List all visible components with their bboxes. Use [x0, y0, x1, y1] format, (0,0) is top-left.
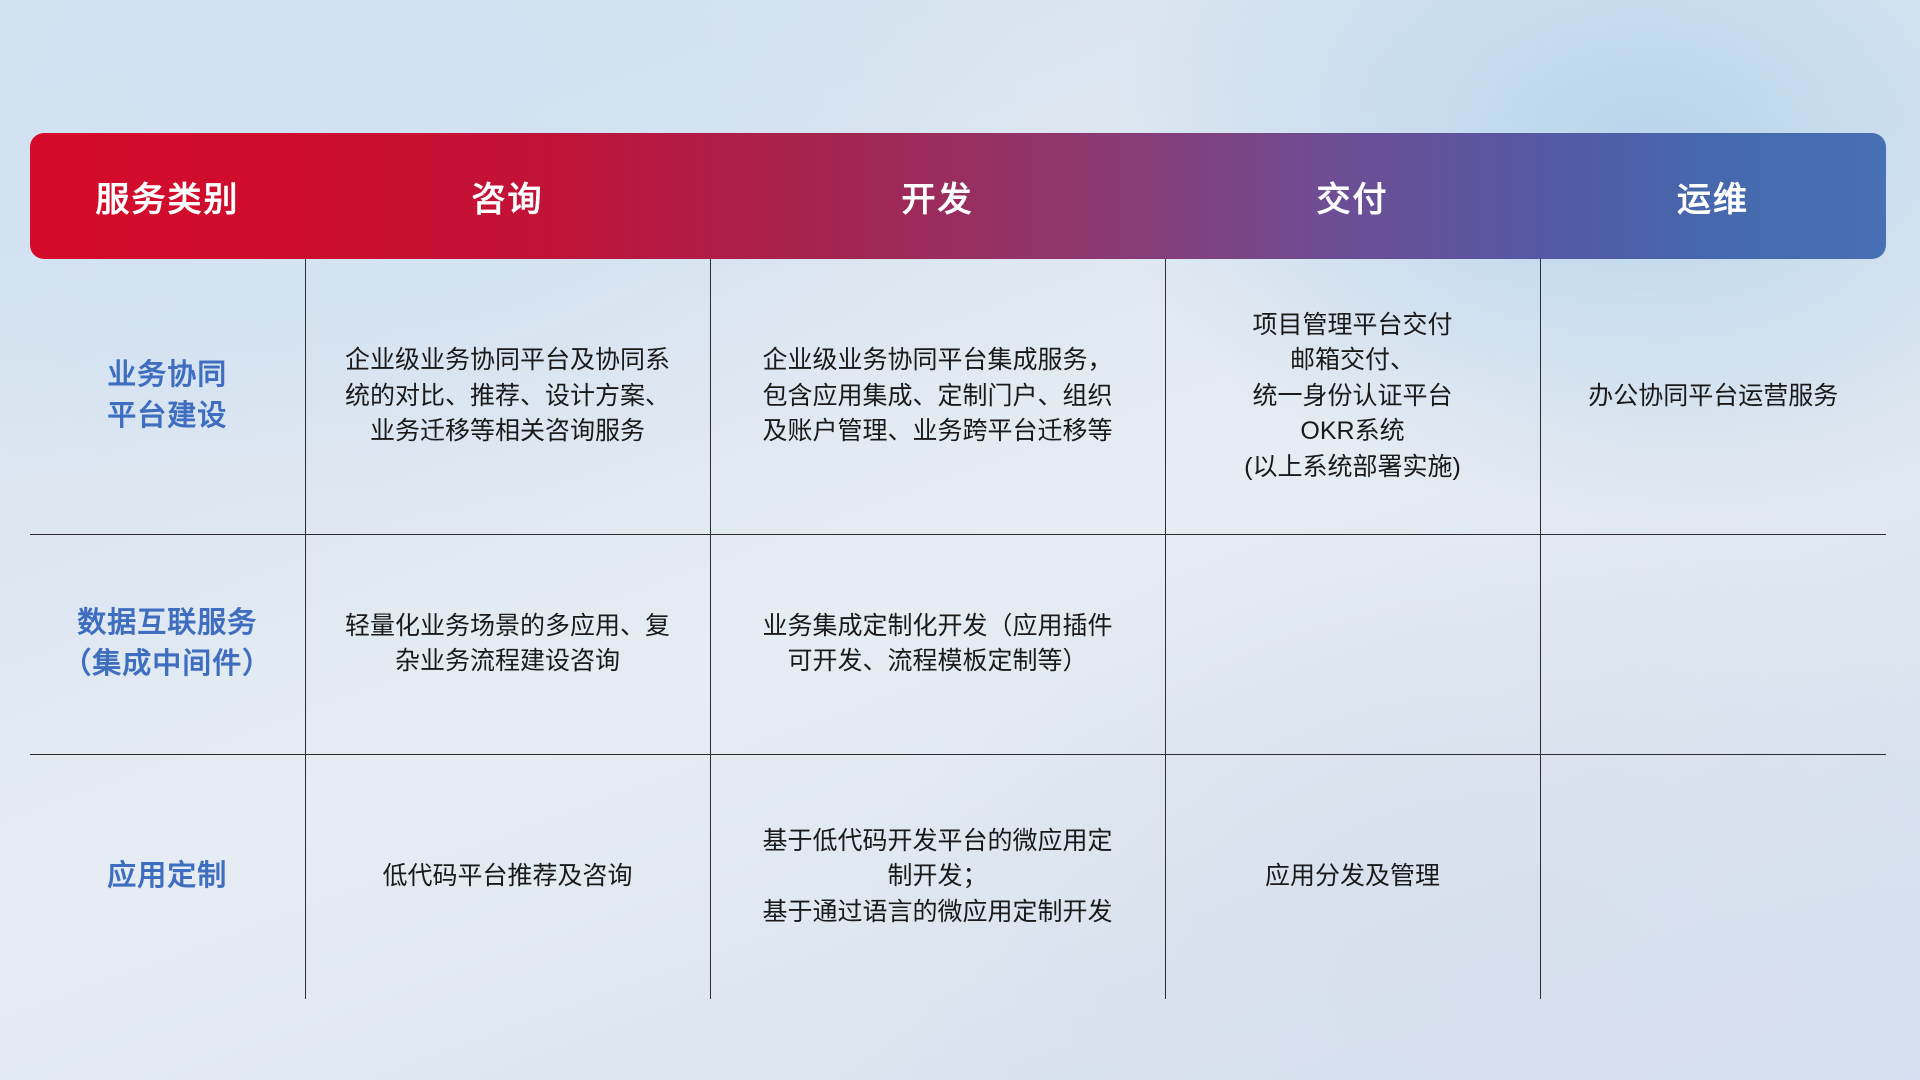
header-label-operations: 运维 [1540, 172, 1886, 221]
table-body: 业务协同 平台建设 企业级业务协同平台及协同系 统的对比、推荐、设计方案、 业务… [30, 259, 1886, 999]
header-cell-service-category: 服务类别 [30, 133, 305, 259]
cell-operations [1540, 534, 1886, 754]
header-cell-development: 开发 [710, 133, 1165, 259]
header-cell-delivery: 交付 [1165, 133, 1540, 259]
cell-delivery: 应用分发及管理 [1165, 754, 1540, 999]
table-row: 业务协同 平台建设 企业级业务协同平台及协同系 统的对比、推荐、设计方案、 业务… [30, 259, 1886, 534]
cell-consulting: 企业级业务协同平台及协同系 统的对比、推荐、设计方案、 业务迁移等相关咨询服务 [305, 259, 710, 534]
header-label-service-category: 服务类别 [30, 172, 305, 221]
header-row: 服务类别 咨询 开发 交付 运维 [30, 133, 1886, 259]
header-label-development: 开发 [710, 172, 1165, 221]
table-header: 服务类别 咨询 开发 交付 运维 [30, 133, 1886, 259]
cell-operations [1540, 754, 1886, 999]
service-matrix-table: 服务类别 咨询 开发 交付 运维 业务协同 平台建设 企业级业务协同平台及协同系… [30, 133, 1886, 999]
cell-consulting: 轻量化业务场景的多应用、复 杂业务流程建设咨询 [305, 534, 710, 754]
cell-development: 基于低代码开发平台的微应用定 制开发； 基于通过语言的微应用定制开发 [710, 754, 1165, 999]
cell-operations: 办公协同平台运营服务 [1540, 259, 1886, 534]
cell-delivery: 项目管理平台交付 邮箱交付、 统一身份认证平台 OKR系统 (以上系统部署实施) [1165, 259, 1540, 534]
cell-category: 数据互联服务 （集成中间件） [30, 534, 305, 754]
cell-consulting: 低代码平台推荐及咨询 [305, 754, 710, 999]
table-row: 数据互联服务 （集成中间件） 轻量化业务场景的多应用、复 杂业务流程建设咨询 业… [30, 534, 1886, 754]
service-matrix-table-wrapper: 服务类别 咨询 开发 交付 运维 业务协同 平台建设 企业级业务协同平台及协同系… [30, 133, 1886, 955]
header-cell-operations: 运维 [1540, 133, 1886, 259]
cell-development: 企业级业务协同平台集成服务， 包含应用集成、定制门户、组织 及账户管理、业务跨平… [710, 259, 1165, 534]
header-label-consulting: 咨询 [305, 172, 710, 221]
header-label-delivery: 交付 [1165, 172, 1540, 221]
table-row: 应用定制 低代码平台推荐及咨询 基于低代码开发平台的微应用定 制开发； 基于通过… [30, 754, 1886, 999]
cell-category: 业务协同 平台建设 [30, 259, 305, 534]
header-cell-consulting: 咨询 [305, 133, 710, 259]
cell-delivery [1165, 534, 1540, 754]
cell-category: 应用定制 [30, 754, 305, 999]
cell-development: 业务集成定制化开发（应用插件 可开发、流程模板定制等） [710, 534, 1165, 754]
